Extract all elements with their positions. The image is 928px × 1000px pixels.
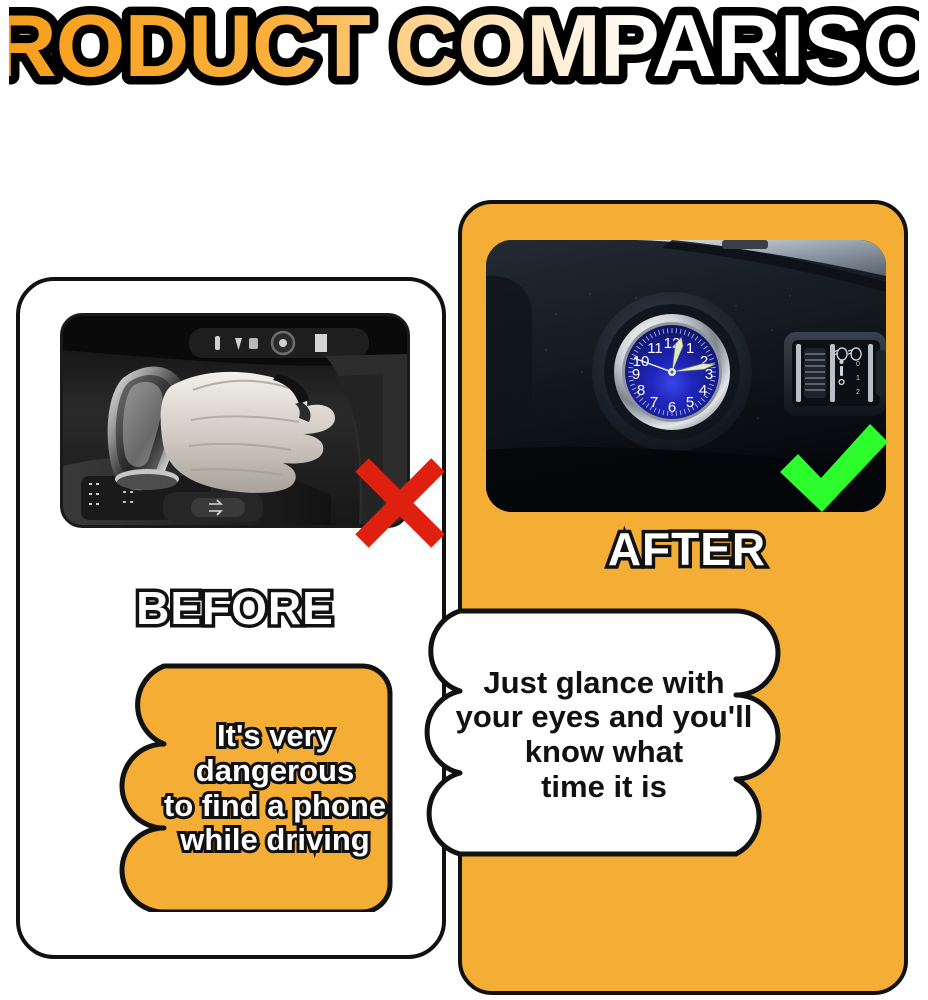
speech-bubble-orange-shape	[110, 660, 414, 912]
page-title: PRODUCT COMPARISON PRODUCT COMPARISON	[9, 6, 919, 98]
speech-bubble-orange: It's very dangerous to find a phone whil…	[110, 660, 414, 917]
svg-text:0: 0	[856, 361, 860, 368]
svg-text:8: 8	[637, 382, 645, 399]
svg-text:1: 1	[686, 340, 694, 357]
svg-text:6: 6	[668, 399, 676, 416]
headlight-switch-panel: 0 1 2	[784, 332, 886, 416]
before-label: BEFORE	[20, 581, 450, 635]
after-label: AFTER	[462, 522, 912, 576]
svg-text:5: 5	[686, 394, 694, 411]
after-card: 12 1 2 3 4 5 6 7 8 9 10 11	[458, 200, 908, 995]
x-mark-icon	[352, 455, 448, 551]
speech-bubble-white: Just glance with your eyes and you'll kn…	[400, 605, 796, 865]
svg-text:4: 4	[699, 382, 707, 399]
svg-text:7: 7	[650, 394, 658, 411]
clock-housing: 12 1 2 3 4 5 6 7 8 9 10 11	[592, 292, 752, 452]
svg-text:1: 1	[856, 375, 860, 382]
svg-text:2: 2	[856, 389, 860, 396]
speech-bubble-white-shape	[400, 605, 796, 860]
check-mark-icon	[774, 418, 892, 516]
page-title-fill: PRODUCT COMPARISON	[9, 6, 919, 95]
svg-text:11: 11	[647, 340, 663, 357]
page-title-banner: PRODUCT COMPARISON PRODUCT COMPARISON	[0, 0, 928, 104]
